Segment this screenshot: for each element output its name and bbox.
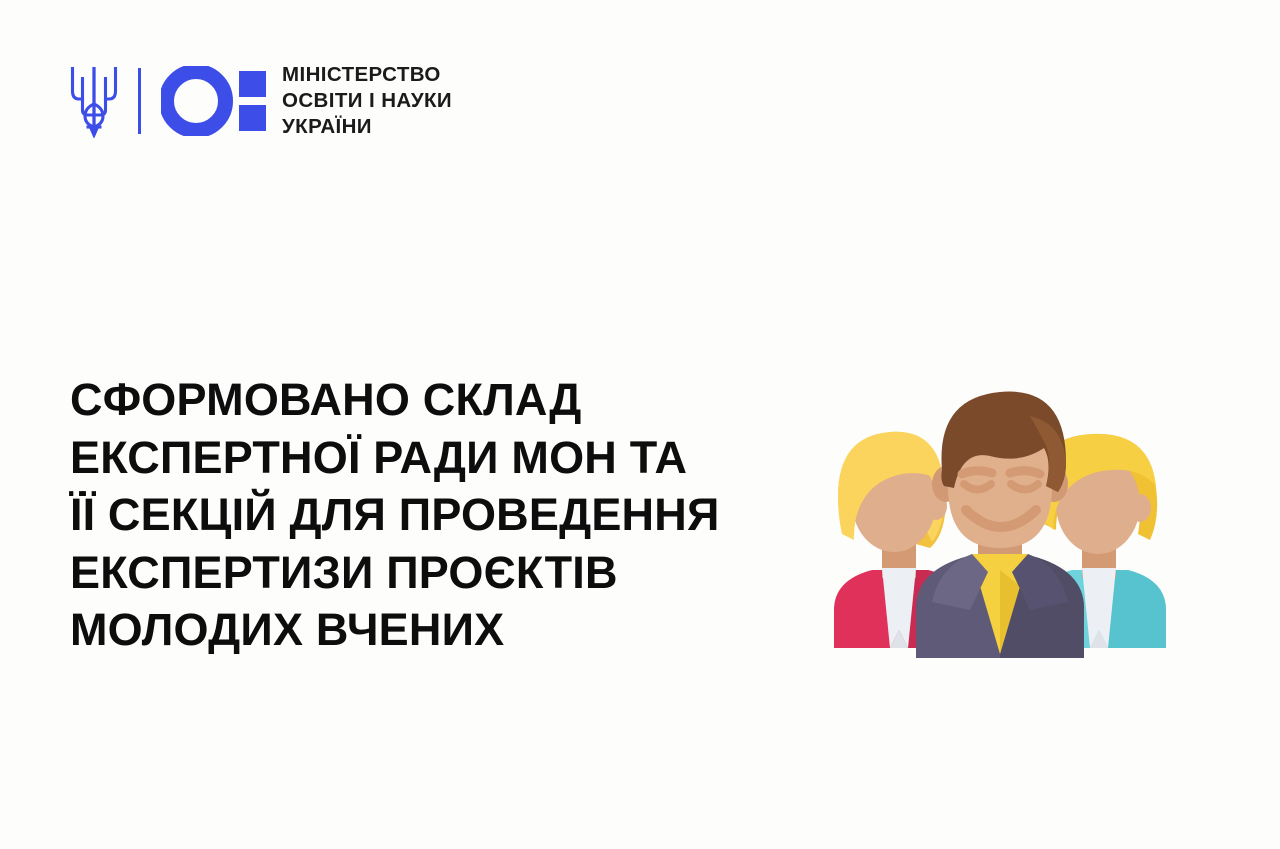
ministry-name-line-3: УКРАЇНИ: [282, 114, 452, 140]
headline-line-4: ЕКСПЕРТИЗИ ПРОЄКТІВ: [70, 544, 830, 602]
ministry-name-block: МІНІСТЕРСТВО ОСВІТИ І НАУКИ УКРАЇНИ: [282, 62, 452, 140]
headline-line-2: ЕКСПЕРТНОЇ РАДИ МОН ТА: [70, 429, 830, 487]
people-group-icon: [820, 358, 1180, 658]
mon-o-equals-icon: [161, 66, 266, 136]
headline-line-5: МОЛОДИХ ВЧЕНИХ: [70, 601, 830, 659]
headline-line-3: ЇЇ СЕКЦІЙ ДЛЯ ПРОВЕДЕННЯ: [70, 486, 830, 544]
headline-line-1: СФОРМОВАНО СКЛАД: [70, 371, 830, 429]
ukraine-trident-icon: [68, 64, 120, 138]
ministry-name-line-1: МІНІСТЕРСТВО: [282, 62, 452, 88]
headline-title: СФОРМОВАНО СКЛАД ЕКСПЕРТНОЇ РАДИ МОН ТА …: [70, 371, 830, 659]
announcement-card: МІНІСТЕРСТВО ОСВІТИ І НАУКИ УКРАЇНИ СФОР…: [0, 0, 1280, 849]
ministry-name-line-2: ОСВІТИ І НАУКИ: [282, 88, 452, 114]
logo-divider: [138, 68, 141, 134]
three-people-group-illustration: [820, 358, 1180, 658]
ministry-logo-lockup: МІНІСТЕРСТВО ОСВІТИ І НАУКИ УКРАЇНИ: [68, 62, 452, 140]
